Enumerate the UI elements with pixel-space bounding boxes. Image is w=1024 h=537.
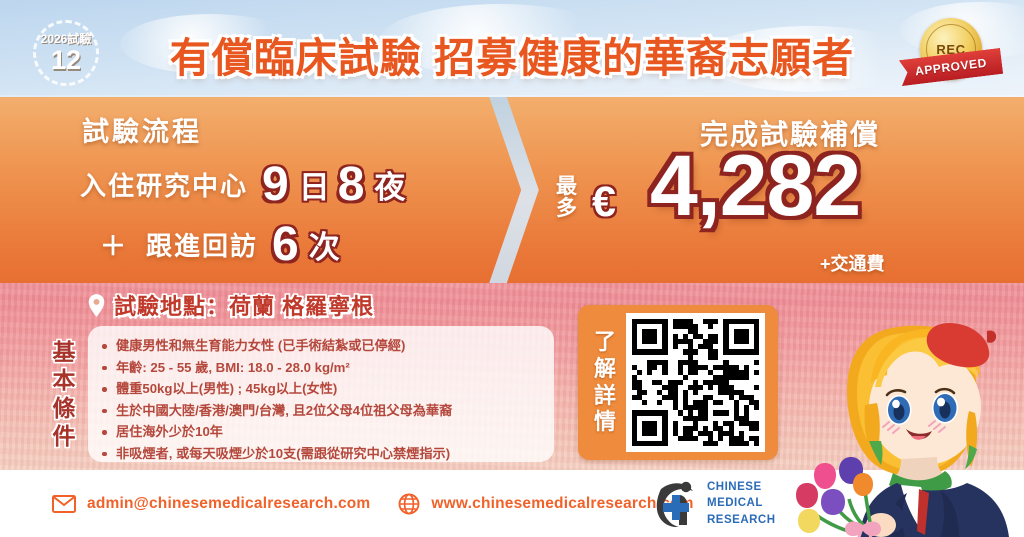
list-item: 非吸煙者, 或每天吸煙少於10支(需跟從研究中心禁煙指示)	[98, 443, 542, 465]
currency-symbol: €	[592, 178, 616, 227]
list-item: 年齡: 25 - 55 歲, BMI: 18.0 - 28.0 kg/m²	[98, 357, 542, 379]
process-row-followup: ＋ 跟進回訪 6 次	[80, 222, 346, 268]
cmr-logo-icon	[655, 479, 699, 527]
page-title: 有償臨床試驗 招募健康的華裔志願者	[0, 24, 1024, 84]
qr-code-image[interactable]	[626, 313, 765, 452]
process-days-number: 9	[262, 162, 289, 208]
qr-cta-panel[interactable]: 了解詳情	[578, 305, 778, 460]
rec-approved-seal: REC APPROVED	[900, 14, 1002, 92]
logo-line-3: RESEARCH	[707, 512, 776, 528]
process-plus-sign: ＋	[80, 226, 146, 263]
list-item: 居住海外少於10年	[98, 421, 542, 443]
process-visits-unit: 次	[309, 222, 340, 267]
process-followup-label: 跟進回訪	[146, 226, 258, 263]
process-title: 試驗流程	[82, 110, 202, 149]
list-item: 生於中國大陸/香港/澳門/台灣, 且2位父母4位祖父母為華裔	[98, 400, 542, 422]
globe-icon	[398, 493, 420, 515]
logo-line-2: MEDICAL	[707, 495, 776, 511]
process-row-stay: 入住研究中心 9 日 8 夜	[80, 162, 411, 208]
process-days-unit: 日	[299, 162, 330, 207]
logo-wordmark: CHINESE MEDICAL RESEARCH	[707, 479, 776, 528]
trial-location-text: 試驗地點：荷蘭 格羅寧根	[114, 289, 374, 321]
map-pin-icon	[88, 294, 105, 317]
compensation-most-label: 最多	[556, 176, 582, 220]
seal-ribbon-label: APPROVED	[914, 56, 987, 79]
envelope-icon	[52, 495, 76, 513]
compensation-extra-note: +交通費	[820, 250, 885, 276]
logo-line-1: CHINESE	[707, 479, 776, 495]
poster-root: 2026試驗 12 有償臨床試驗 招募健康的華裔志願者 REC APPROVED…	[0, 0, 1024, 537]
process-nights-unit: 夜	[374, 162, 405, 207]
process-visits-number: 6	[272, 222, 299, 268]
qr-cta-label: 了解詳情	[588, 329, 622, 436]
conditions-list: 健康男性和無生育能力女性 (已手術結紮或已停經) 年齡: 25 - 55 歲, …	[88, 326, 554, 462]
list-item: 體重50kg以上(男性) ; 45kg以上(女性)	[98, 378, 542, 400]
conditions-vertical-label: 基本條件	[47, 338, 81, 450]
trial-location: 試驗地點：荷蘭 格羅寧根	[88, 289, 374, 321]
process-nights-number: 8	[338, 162, 365, 208]
contact-email[interactable]: admin@chinesemedicalresearch.com	[52, 495, 370, 513]
list-item: 健康男性和無生育能力女性 (已手術結紮或已停經)	[98, 335, 542, 357]
process-stay-label: 入住研究中心	[80, 166, 248, 203]
contact-website[interactable]: www.chinesemedicalresearch.com	[398, 493, 693, 515]
contact-email-text: admin@chinesemedicalresearch.com	[87, 495, 370, 513]
footer-bar: admin@chinesemedicalresearch.com www.chi…	[0, 470, 1024, 537]
organization-logo: CHINESE MEDICAL RESEARCH	[655, 479, 776, 528]
compensation-amount: 4,282	[650, 143, 860, 229]
